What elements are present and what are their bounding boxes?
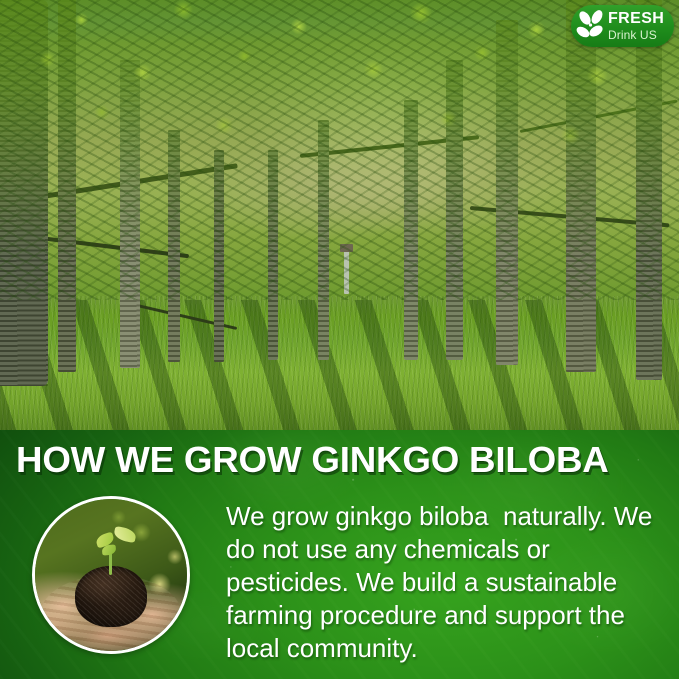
brand-logo-badge[interactable]: FRESH Drink US: [571, 5, 674, 47]
leaf-cluster-icon: [576, 9, 606, 43]
hands-seedling-photo: [32, 496, 190, 654]
infographic-panel: FRESH Drink US HOW WE GROW GINKGO BILOBA…: [0, 0, 679, 679]
logo-primary-text: FRESH: [608, 11, 664, 27]
hero-forest-photo: FRESH Drink US: [0, 0, 679, 432]
soil-mound: [75, 566, 148, 627]
logo-secondary-text: Drink US: [608, 29, 664, 41]
page-title: HOW WE GROW GINKGO BILOBA: [16, 440, 679, 480]
body-paragraph: We grow ginkgo biloba naturally. We do n…: [226, 500, 668, 665]
leaf-canopy-texture: [0, 0, 679, 300]
